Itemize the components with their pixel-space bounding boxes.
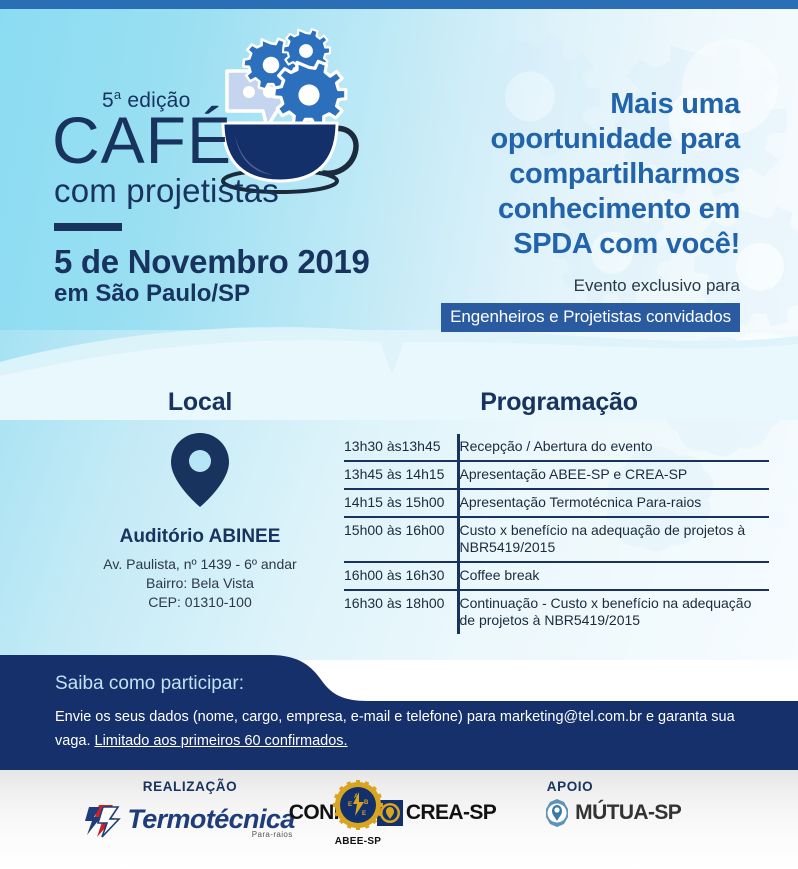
mutua-seal-icon — [542, 798, 572, 828]
schedule-time: 16h00 às 16h30 — [344, 562, 458, 590]
schedule-table: 13h30 às13h45 Recepção / Abertura do eve… — [344, 434, 769, 634]
headline-line-1: Mais uma — [420, 87, 740, 122]
schedule-time: 13h30 às13h45 — [344, 434, 458, 461]
event-title: CAFÉ — [40, 109, 420, 171]
event-logo-block: 5a edição CAFÉ com projetistas 5 de Nove… — [40, 87, 420, 308]
headline-line-3: compartilharmos — [420, 157, 740, 192]
table-row: 16h30 às 18h00 Continuação - Custo x ben… — [344, 590, 769, 634]
abee-gear-seal-icon: AB EE — [333, 780, 383, 830]
headline-subline: Evento exclusivo para — [420, 276, 740, 296]
programacao-column: Programação 13h30 às13h45 Recepção / Abe… — [344, 388, 774, 634]
address-line-1: Av. Paulista, nº 1439 - 6º andar — [70, 555, 330, 574]
mutua-logo[interactable]: MÚTUA-SP — [542, 798, 681, 828]
cta-text-underlined[interactable]: Limitado aos primeiros 60 confirmados. — [95, 733, 348, 749]
schedule-desc: Apresentação Termotécnica Para-raios — [458, 489, 769, 517]
abee-logo[interactable]: AB EE ABEE-SP — [318, 780, 398, 847]
event-subtitle: com projetistas — [40, 173, 420, 209]
schedule-time: 13h45 às 14h15 — [344, 461, 458, 489]
schedule-desc: Custo x benefício na adequação de projet… — [458, 517, 769, 562]
schedule-time: 15h00 às 16h00 — [344, 517, 458, 562]
local-column: Local Auditório ABINEE Av. Paulista, nº … — [70, 388, 330, 612]
mutua-wordmark: MÚTUA-SP — [575, 801, 681, 825]
table-row: 14h15 às 15h00 Apresentação Termotécnica… — [344, 489, 769, 517]
map-pin-icon — [169, 431, 231, 509]
crea-wordmark: CREA-SP — [406, 801, 496, 825]
headline-block: Mais uma oportunidade para compartilharm… — [420, 87, 740, 332]
schedule-desc: Apresentação ABEE-SP e CREA-SP — [458, 461, 769, 489]
event-city: em São Paulo/SP — [40, 280, 420, 308]
svg-text:B: B — [364, 800, 369, 806]
realizacao-label: REALIZAÇÃO — [40, 779, 340, 794]
svg-text:E: E — [362, 811, 366, 817]
apoio-label: APOIO — [380, 779, 760, 794]
address-line-3: CEP: 01310-100 — [70, 593, 330, 612]
schedule-desc: Continuação - Custo x benefício na adequ… — [458, 590, 769, 634]
event-poster: 5a edição CAFÉ com projetistas 5 de Nove… — [0, 0, 798, 869]
headline-line-2: oportunidade para — [420, 122, 740, 157]
headline-line-5: SPDA com você! — [420, 227, 740, 262]
venue-name: Auditório ABINEE — [70, 526, 330, 548]
svg-text:E: E — [348, 802, 352, 808]
apoio-column: APOIO — [380, 779, 760, 794]
apoio-logo-row: CONFEA CREA-SP MÚTUA-SP — [0, 798, 798, 828]
table-row: 16h00 às 16h30 Coffee break — [344, 562, 769, 590]
table-row: 15h00 às 16h00 Custo x benefício na adeq… — [344, 517, 769, 562]
table-row: 13h30 às13h45 Recepção / Abertura do eve… — [344, 434, 769, 461]
svg-text:A: A — [354, 794, 359, 800]
schedule-time: 14h15 às 15h00 — [344, 489, 458, 517]
schedule-desc: Recepção / Abertura do evento — [458, 434, 769, 461]
audience-badge: Engenheiros e Projetistas convidados — [441, 303, 740, 332]
table-row: 13h45 às 14h15 Apresentação ABEE-SP e CR… — [344, 461, 769, 489]
schedule-time: 16h30 às 18h00 — [344, 590, 458, 634]
address-line-2: Bairro: Bela Vista — [70, 574, 330, 593]
event-date: 5 de Novembro 2019 — [40, 243, 420, 280]
top-accent-bar — [0, 0, 798, 9]
footer-section: REALIZAÇÃO Termotécnica Para-raios APOIO… — [0, 770, 798, 869]
abee-caption: ABEE-SP — [318, 836, 398, 847]
schedule-desc: Coffee break — [458, 562, 769, 590]
title-divider — [54, 223, 122, 231]
cta-section: Saiba como participar: Envie os seus dad… — [0, 655, 798, 770]
headline-line-4: conhecimento em — [420, 192, 740, 227]
cta-text: Envie os seus dados (nome, cargo, empres… — [55, 705, 755, 753]
programacao-title: Programação — [344, 388, 774, 417]
local-title: Local — [70, 388, 330, 417]
cta-title: Saiba como participar: — [55, 673, 244, 695]
